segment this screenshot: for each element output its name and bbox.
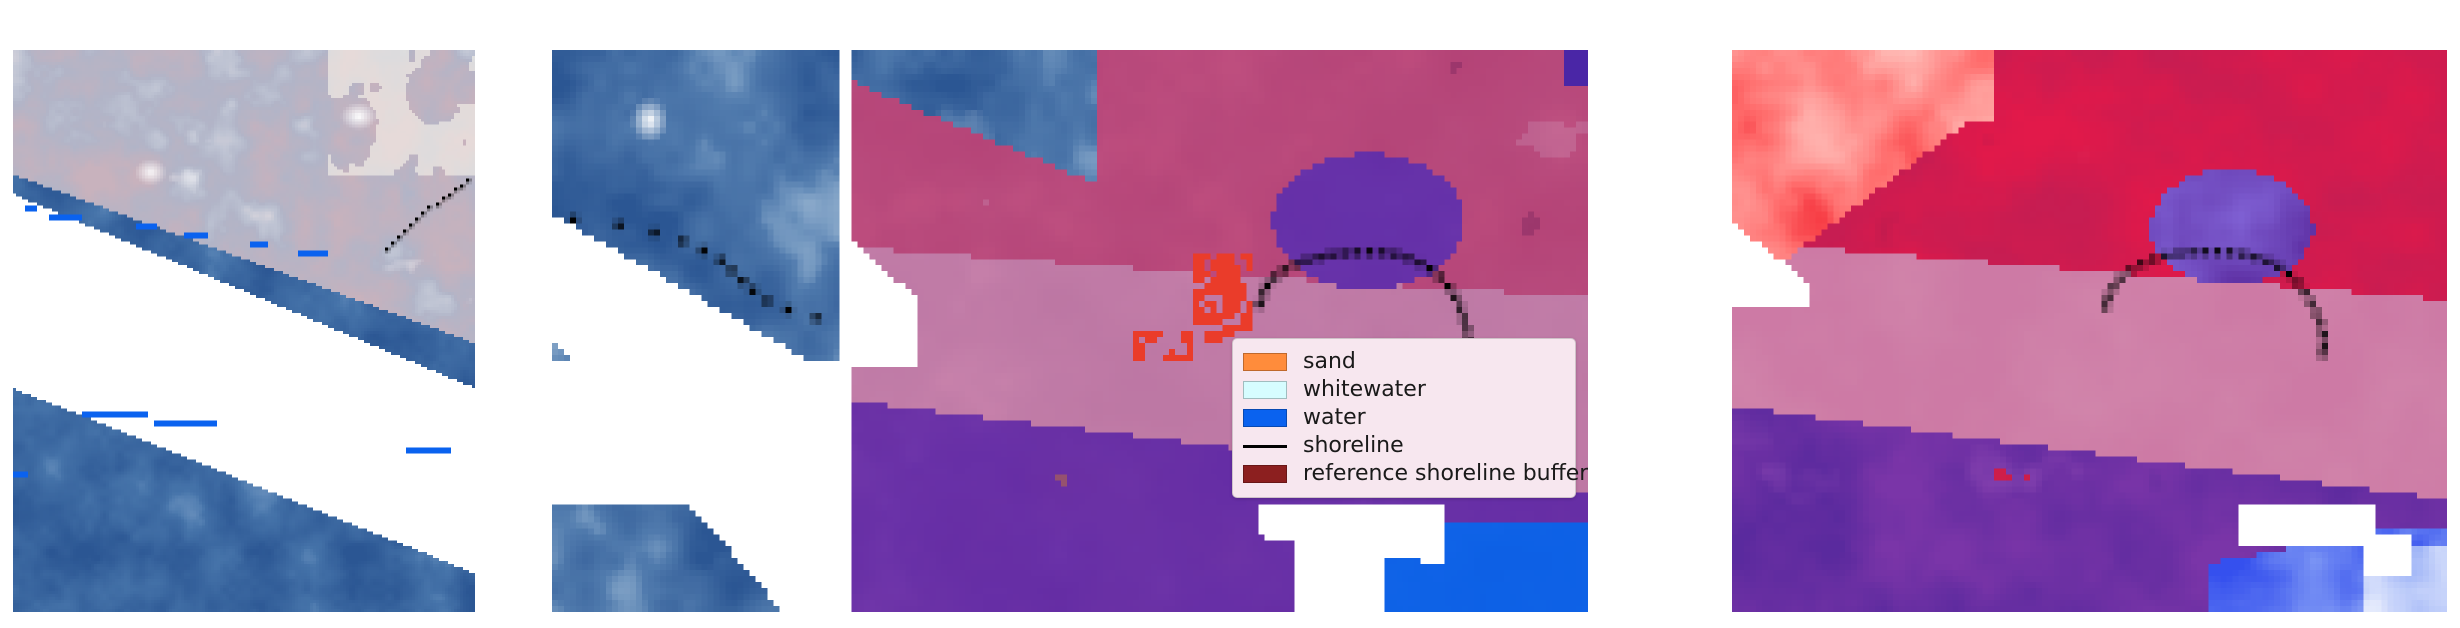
legend-item-shoreline: shoreline bbox=[1243, 432, 1563, 460]
panel-classified: 2020-02-27-09-43-43 sand whitewater wate… bbox=[552, 50, 1588, 612]
sand-swatch-icon bbox=[1243, 353, 1287, 371]
legend-label-whitewater: whitewater bbox=[1303, 379, 1426, 401]
legend-item-whitewater: whitewater bbox=[1243, 376, 1563, 404]
reference-buffer-swatch-icon bbox=[1243, 465, 1287, 483]
panel-sar: sar2438 bbox=[13, 50, 475, 612]
legend-label-sand: sand bbox=[1303, 351, 1356, 373]
panel-l7: L7 bbox=[1732, 50, 2447, 612]
whitewater-swatch-icon bbox=[1243, 381, 1287, 399]
shoreline-line-icon bbox=[1243, 445, 1287, 448]
legend: sand whitewater water shoreline referenc… bbox=[1232, 338, 1576, 498]
legend-label-shoreline: shoreline bbox=[1303, 435, 1404, 457]
water-swatch-icon bbox=[1243, 409, 1287, 427]
panel-l7-image bbox=[1732, 50, 2447, 612]
legend-label-reference-buffer: reference shoreline buffer bbox=[1303, 463, 1588, 485]
panel-sar-image bbox=[13, 50, 475, 612]
figure-root: sar2438 2020-02-27-09-43-43 sand whitewa… bbox=[0, 0, 2460, 628]
legend-item-sand: sand bbox=[1243, 348, 1563, 376]
legend-item-reference-buffer: reference shoreline buffer bbox=[1243, 460, 1563, 488]
panel-classified-image bbox=[552, 50, 1588, 612]
legend-item-water: water bbox=[1243, 404, 1563, 432]
legend-label-water: water bbox=[1303, 407, 1366, 429]
